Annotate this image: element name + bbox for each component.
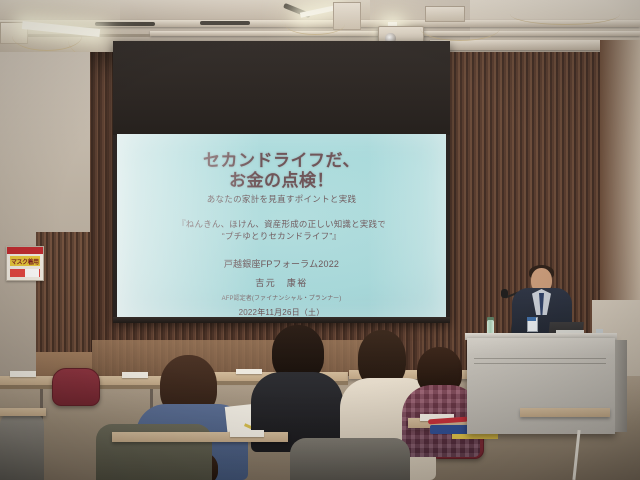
presenter-badge-header — [527, 317, 536, 321]
ceiling-conduit-1 — [95, 22, 155, 26]
slide-presenter-name: 吉元 康裕 — [255, 276, 308, 289]
chair-back-1[interactable] — [52, 368, 100, 406]
paper-back-2 — [122, 372, 148, 378]
slide-content: セカンドライフだ、 お金の点検！ あなたの家計を見直すポイントと実践 『ねんきん… — [117, 134, 446, 319]
notebook-yellow — [452, 434, 498, 439]
slide-credential: AFP認定者(ファイナンシャル・プランナー) — [222, 293, 342, 302]
slide-title-line1: セカンドライフだ、 — [203, 151, 360, 171]
slide-quote: 『ねんきん、ほけん、資産形成の正しい知識と実践で “プチゆとりセカンドライフ”』 — [177, 218, 386, 243]
projection-screen: セカンドライフだ、 お金の点検！ あなたの家計を見直すポイントと実践 『ねんきん… — [113, 41, 450, 323]
poster-label: マスク着用 — [11, 257, 39, 266]
slide-quote-line2: “プチゆとりセカンドライフ”』 — [177, 230, 386, 242]
chair-front-right[interactable] — [290, 438, 410, 480]
mask-notice-poster: マスク着用 — [6, 246, 44, 281]
podium-groove-1 — [474, 358, 606, 359]
paper-back-3 — [236, 369, 262, 374]
far-right-wall — [600, 40, 640, 340]
slide-title-line2: お金の点検！ — [203, 171, 360, 191]
poster-header-bar — [7, 247, 43, 254]
slide-forum-name: 戸越銀座FPフォーラム2022 — [224, 257, 339, 270]
slide-subtitle: あなたの家計を見直すポイントと実践 — [207, 193, 357, 205]
screen-bottom-edge — [113, 317, 450, 323]
poster-footer-white — [25, 269, 39, 277]
slide-title: セカンドライフだ、 お金の点検！ — [203, 151, 360, 191]
paper-back-1 — [10, 371, 36, 377]
slide-quote-line1: 『ねんきん、ほけん、資産形成の正しい知識と実践で — [177, 218, 386, 230]
paper-front-1 — [230, 430, 264, 437]
projected-slide: セカンドライフだ、 お金の点検！ あなたの家計を見直すポイントと実践 『ねんきん… — [117, 134, 446, 319]
podium-side-panel — [615, 340, 627, 432]
screen-masking-area — [113, 41, 450, 135]
photo-scene: マスク着用 セカンドライフだ、 お金の点検！ あなたの家計を見直すポイントと実践… — [0, 0, 640, 480]
ceiling-box-2 — [425, 6, 465, 22]
podium — [467, 338, 615, 434]
ceiling-conduit-2 — [200, 21, 250, 25]
table-front-left — [0, 408, 46, 416]
chair-front-far-left[interactable] — [0, 414, 44, 480]
microphone-icon — [501, 289, 508, 298]
table-podium-right — [520, 408, 610, 417]
podium-groove-2 — [474, 363, 606, 364]
